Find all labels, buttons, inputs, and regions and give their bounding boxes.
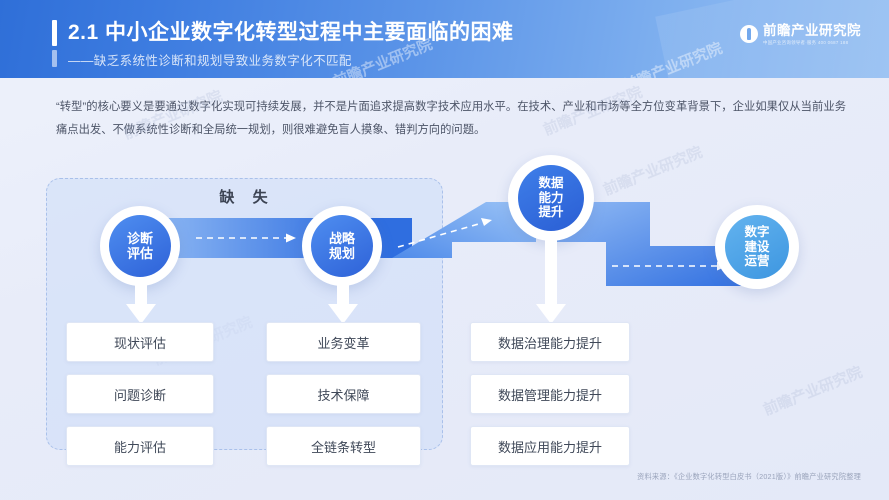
- brand-logo-text: 前瞻产业研究院 中国产业咨询领导者·服务 400 0687 188: [763, 24, 861, 45]
- node-label-line: 诊断: [127, 231, 153, 246]
- node-label-line: 评估: [127, 246, 153, 261]
- down-arrow-icon: [124, 280, 158, 328]
- node-digital-operation[interactable]: 数字 建设 运营: [715, 205, 799, 289]
- page-subtitle: ——缺乏系统性诊断和规划导致业务数字化不匹配: [68, 50, 352, 69]
- prospective-logo-icon: [740, 25, 758, 43]
- down-arrow-icon: [534, 236, 568, 328]
- page-title: 2.1 中小企业数字化转型过程中主要面临的困难: [68, 16, 514, 46]
- slide-root: 2.1 中小企业数字化转型过程中主要面临的困难 ——缺乏系统性诊断和规划导致业务…: [0, 0, 889, 500]
- list-item[interactable]: 技术保障: [266, 374, 421, 414]
- node-label-line: 数据: [538, 176, 563, 191]
- node-label-line: 规划: [329, 246, 355, 261]
- list-item[interactable]: 能力评估: [66, 426, 214, 466]
- node-strategic-planning[interactable]: 战略 规划: [302, 206, 382, 286]
- watermark: 前瞻产业研究院: [760, 361, 865, 420]
- title-accent-bar: [52, 20, 57, 46]
- node-label-line: 提升: [538, 205, 563, 220]
- brand-name: 前瞻产业研究院: [763, 24, 861, 38]
- brand-logo: 前瞻产业研究院 中国产业咨询领导者·服务 400 0687 188: [740, 24, 861, 45]
- node-core: 诊断 评估: [109, 215, 171, 277]
- watermark: 前瞻产业研究院: [620, 37, 725, 78]
- list-item[interactable]: 现状评估: [66, 322, 214, 362]
- source-note: 资料来源：《企业数字化转型白皮书（2021版）》前瞻产业研究院整理: [637, 472, 861, 482]
- node-data-capability[interactable]: 数据 能力 提升: [508, 155, 594, 241]
- node-label-line: 数字: [744, 225, 769, 240]
- column-planning-items: 业务变革 技术保障 全链条转型: [266, 322, 421, 466]
- node-core: 数字 建设 运营: [725, 215, 789, 279]
- subtitle-accent-bar: [52, 50, 57, 67]
- down-arrow-icon: [326, 280, 360, 328]
- intro-paragraph: “转型”的核心要义是要通过数字化实现可持续发展，并不是片面追求提高数字技术应用水…: [56, 96, 846, 142]
- node-core: 战略 规划: [311, 215, 373, 277]
- list-item[interactable]: 数据应用能力提升: [470, 426, 630, 466]
- node-diagnosis-assessment[interactable]: 诊断 评估: [100, 206, 180, 286]
- brand-tagline: 中国产业咨询领导者·服务 400 0687 188: [763, 41, 861, 45]
- list-item[interactable]: 全链条转型: [266, 426, 421, 466]
- node-label-line: 战略: [329, 231, 355, 246]
- node-label-line: 建设: [744, 240, 769, 255]
- column-diagnosis-items: 现状评估 问题诊断 能力评估: [66, 322, 214, 466]
- list-item[interactable]: 数据管理能力提升: [470, 374, 630, 414]
- list-item[interactable]: 数据治理能力提升: [470, 322, 630, 362]
- node-label-line: 运营: [744, 254, 769, 269]
- column-data-capability-items: 数据治理能力提升 数据管理能力提升 数据应用能力提升: [470, 322, 630, 466]
- list-item[interactable]: 业务变革: [266, 322, 421, 362]
- node-core: 数据 能力 提升: [518, 165, 584, 231]
- slide-header: 2.1 中小企业数字化转型过程中主要面临的困难 ——缺乏系统性诊断和规划导致业务…: [0, 0, 889, 78]
- node-label-line: 能力: [538, 191, 563, 206]
- list-item[interactable]: 问题诊断: [66, 374, 214, 414]
